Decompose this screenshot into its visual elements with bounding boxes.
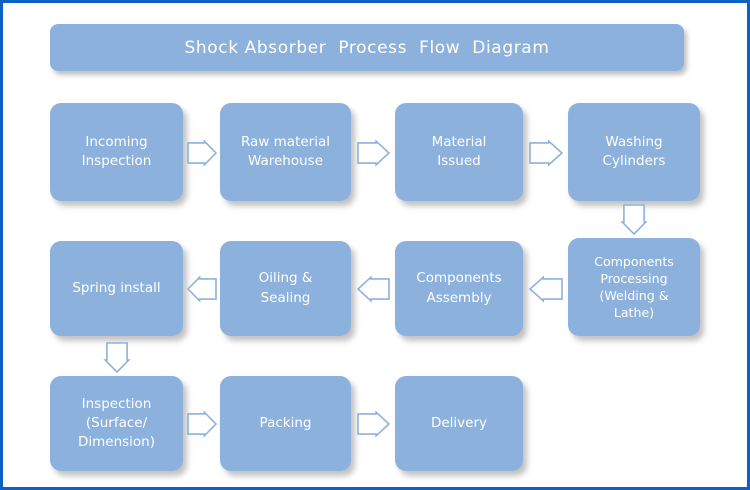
- process-node-inspection-surface[interactable]: Inspection (Surface/ Dimension): [50, 376, 183, 471]
- process-node-spring-install[interactable]: Spring install: [50, 241, 183, 336]
- process-node-washing-cylinders[interactable]: Washing Cylinders: [568, 103, 700, 201]
- process-node-label: Oiling & Sealing: [259, 269, 313, 307]
- flow-arrow-right-material-issued-to-washing: [529, 139, 563, 167]
- process-node-label: Inspection (Surface/ Dimension): [78, 395, 155, 452]
- process-node-delivery[interactable]: Delivery: [395, 376, 523, 471]
- flow-arrow-right-incoming-to-raw-material: [187, 139, 217, 167]
- process-node-packing[interactable]: Packing: [220, 376, 351, 471]
- process-node-label: Washing Cylinders: [603, 133, 666, 171]
- process-node-label: Components Processing (Welding & Lathe): [594, 253, 674, 321]
- process-node-material-issued[interactable]: Material Issued: [395, 103, 523, 201]
- diagram-title-banner: Shock Absorber Process Flow Diagram: [50, 24, 684, 71]
- flow-arrow-left-processing-to-assembly: [529, 275, 563, 303]
- page-title: Shock Absorber Process Flow Diagram: [185, 38, 550, 58]
- process-node-label: Delivery: [431, 414, 487, 433]
- process-node-components-processing[interactable]: Components Processing (Welding & Lathe): [568, 238, 700, 336]
- process-node-components-assembly[interactable]: Components Assembly: [395, 241, 523, 336]
- flow-arrow-left-assembly-to-oiling: [357, 275, 390, 303]
- flow-arrow-right-packing-to-delivery: [357, 410, 390, 438]
- flowchart-canvas: Shock Absorber Process Flow Diagram Inco…: [0, 0, 750, 490]
- process-node-raw-material-warehouse[interactable]: Raw material Warehouse: [220, 103, 351, 201]
- process-node-oiling-sealing[interactable]: Oiling & Sealing: [220, 241, 351, 336]
- flow-arrow-down-spring-install-to-inspection: [103, 342, 131, 373]
- process-node-label: Components Assembly: [416, 269, 501, 307]
- process-node-label: Packing: [260, 414, 312, 433]
- flow-arrow-right-raw-material-to-material-issued: [357, 139, 390, 167]
- process-node-incoming-inspection[interactable]: Incoming Inspection: [50, 103, 183, 201]
- flow-arrow-down-washing-to-processing: [620, 204, 648, 235]
- process-node-label: Incoming Inspection: [82, 133, 152, 171]
- process-node-label: Spring install: [72, 279, 160, 298]
- flow-arrow-left-oiling-to-spring-install: [187, 275, 217, 303]
- process-node-label: Raw material Warehouse: [241, 133, 330, 171]
- process-node-label: Material Issued: [432, 133, 487, 171]
- flow-arrow-right-inspection-to-packing: [187, 410, 217, 438]
